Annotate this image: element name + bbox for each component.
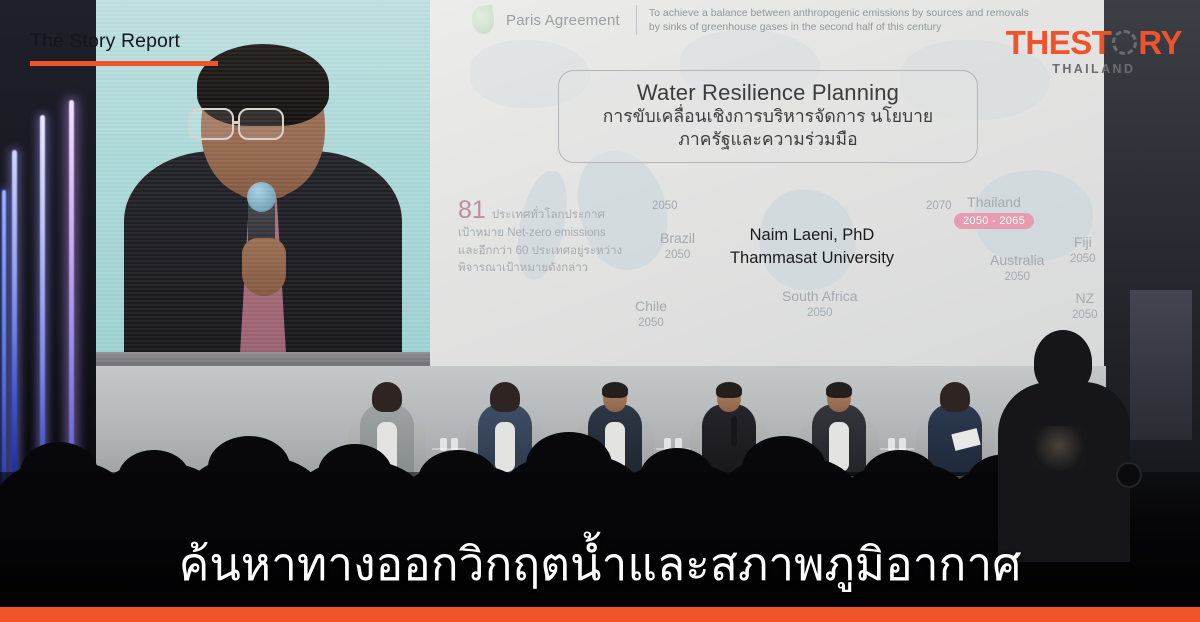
map-label-chile-name: Chile <box>635 298 667 315</box>
logo-word-ry: RY <box>1138 26 1182 59</box>
watermark-underline <box>30 61 218 66</box>
map-label-chile-year: 2050 <box>635 315 667 331</box>
slide-title-thai-line1: การขับเคลื่อนเชิงการบริหารจัดการ นโยบาย <box>569 105 967 128</box>
speaker-shirt <box>230 166 296 366</box>
map-label-fiji-year: 2050 <box>1070 251 1096 267</box>
map-label-australia: Australia 2050 <box>990 252 1044 285</box>
speaker-glasses-bridge <box>234 121 240 124</box>
map-label-chile: Chile 2050 <box>635 298 667 331</box>
header-divider <box>636 5 637 35</box>
speaker-glasses-right <box>238 108 284 140</box>
slide-title-thai-line2: ภาครัฐและความร่วมมือ <box>569 128 967 151</box>
microphone-head-icon <box>247 182 276 212</box>
speaker-neck <box>235 150 291 198</box>
watermark-text: The Story Report <box>30 32 218 52</box>
map-label-thailand: Thailand 2050 - 2065 <box>954 194 1034 229</box>
stat-line-4: พิจารณาเป้าหมายดังกล่าว <box>458 260 658 278</box>
camera-operator <box>994 302 1144 562</box>
logo-subtitle: THAILAND <box>1006 62 1182 76</box>
speaker-glasses-left <box>188 108 234 140</box>
dashed-circle-o-icon <box>1112 30 1137 55</box>
stat-line-3: และอีกกว่า 60 ประเทศอยู่ระหว่าง <box>458 243 658 261</box>
speaker-jacket <box>124 151 402 366</box>
paris-agreement-label: Paris Agreement <box>506 12 620 29</box>
speaker-organization: Thammasat University <box>662 247 962 270</box>
logo-wordmark-row: THEST RY <box>1006 26 1182 59</box>
logo-word-thest: THEST <box>1006 26 1112 59</box>
map-label-year-2070: 2070 <box>926 200 952 212</box>
map-label-australia-year: 2050 <box>990 269 1044 285</box>
map-label-south-africa: South Africa 2050 <box>782 288 858 321</box>
camera-lens-icon <box>1116 462 1142 488</box>
map-label-year-2050-europe: 2050 <box>652 200 678 212</box>
speaker-head <box>201 52 325 198</box>
the-story-report-watermark: The Story Report <box>30 32 218 66</box>
the-story-thailand-logo[interactable]: THEST RY THAILAND <box>1006 26 1182 76</box>
thailand-year-badge: 2050 - 2065 <box>954 213 1034 229</box>
net-zero-stat-block: 81 ประเทศทั่วโลกประกาศ เป้าหมาย Net-zero… <box>458 198 658 278</box>
bottom-accent-bar <box>0 607 1200 622</box>
leaf-icon <box>470 5 496 36</box>
paris-agreement-description: To achieve a balance between anthropogen… <box>649 6 1039 34</box>
camera-operator-shirt-graphic <box>1032 426 1086 470</box>
camera-operator-body <box>998 382 1130 562</box>
headline-caption: ค้นหาทางออกวิกฤตน้ำและสภาพภูมิอากาศ <box>0 540 1200 588</box>
map-label-fiji-name: Fiji <box>1070 234 1096 251</box>
slide-speaker-credit: Naim Laeni, PhD Thammasat University <box>662 224 962 271</box>
map-label-fiji: Fiji 2050 <box>1070 234 1096 267</box>
slide-title-card: Water Resilience Planning การขับเคลื่อนเ… <box>558 70 978 163</box>
stat-line-1: ประเทศทั่วโลกประกาศ <box>492 207 605 225</box>
microphone-body <box>248 186 275 280</box>
stat-number: 81 <box>458 198 486 223</box>
map-label-australia-name: Australia <box>990 252 1044 269</box>
slide-header: Paris Agreement To achieve a balance bet… <box>430 0 1106 40</box>
stat-line-2: เป้าหมาย Net-zero emissions <box>458 225 658 243</box>
speaker-desk-edge <box>96 352 430 366</box>
slide-title-english: Water Resilience Planning <box>569 80 967 105</box>
map-label-thailand-name: Thailand <box>954 194 1034 211</box>
map-label-south-africa-year: 2050 <box>782 305 858 321</box>
speaker-hand <box>242 238 286 296</box>
speaker-name: Naim Laeni, PhD <box>662 224 962 247</box>
screenshot-root: Paris Agreement To achieve a balance bet… <box>0 0 1200 622</box>
map-label-south-africa-name: South Africa <box>782 288 858 305</box>
